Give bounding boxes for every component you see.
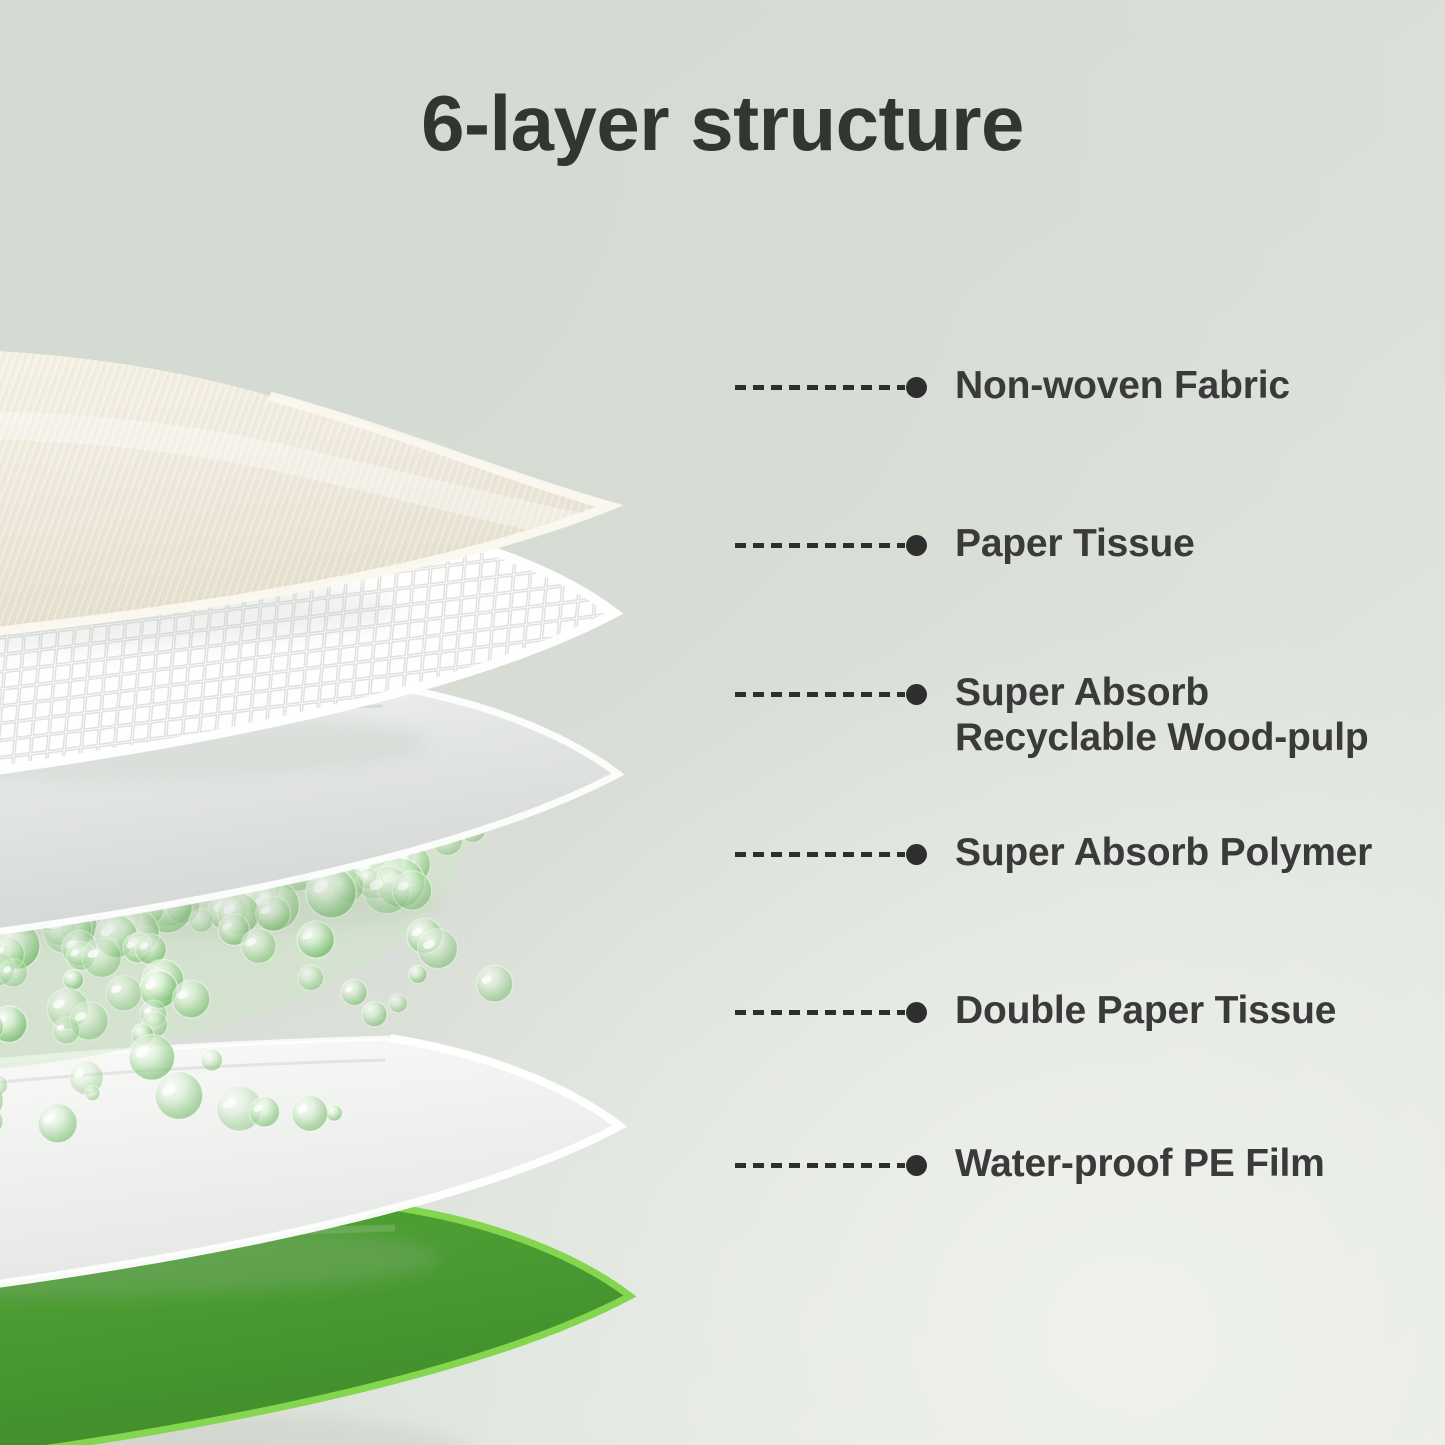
- label-line-1: Super Absorb: [955, 671, 1209, 714]
- leader-line: [735, 692, 905, 697]
- label-super-absorb-recyclable-wood-pulp: Super Absorb Recyclable Wood-pulp: [955, 670, 1369, 760]
- label-super-absorb-polymer: Super Absorb Polymer: [955, 830, 1372, 875]
- page-title: 6-layer structure: [0, 78, 1445, 169]
- leader-line: [735, 385, 905, 390]
- label-double-paper-tissue: Double Paper Tissue: [955, 988, 1336, 1033]
- layer-non-woven-fabric: [0, 310, 750, 690]
- leader-dot: [906, 535, 927, 556]
- leader-dot: [906, 1155, 927, 1176]
- leader-dot: [906, 1002, 927, 1023]
- layer-stack-illustration: [0, 250, 850, 1445]
- label-paper-tissue: Paper Tissue: [955, 521, 1195, 566]
- leader-dot: [906, 684, 927, 705]
- leader-dot: [906, 377, 927, 398]
- leader-line: [735, 1010, 905, 1015]
- leader-line: [735, 1163, 905, 1168]
- label-water-proof-pe-film: Water-proof PE Film: [955, 1141, 1325, 1186]
- label-non-woven-fabric: Non-woven Fabric: [955, 363, 1290, 408]
- leader-line: [735, 852, 905, 857]
- leader-dot: [906, 844, 927, 865]
- label-line-2: Recyclable Wood-pulp: [955, 715, 1369, 760]
- leader-line: [735, 543, 905, 548]
- product-layer-diagram: 6-layer structure: [0, 0, 1445, 1445]
